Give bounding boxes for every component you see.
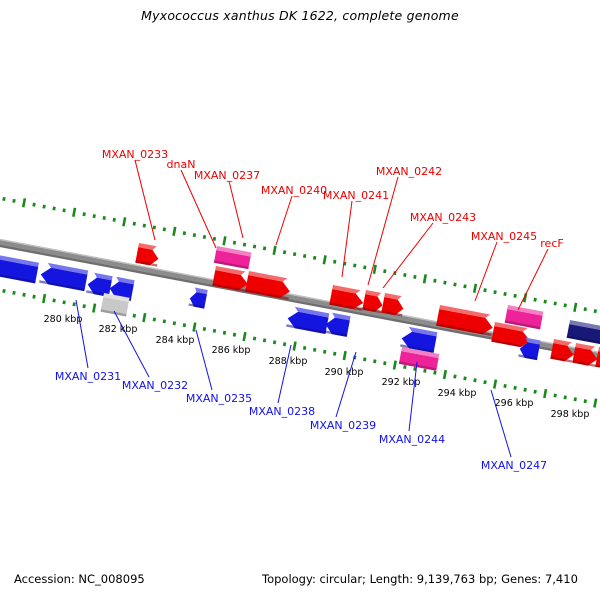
scale-tick-label: 288 kbp bbox=[269, 356, 308, 367]
leader-line-MXAN_0233 bbox=[135, 160, 155, 240]
scale-tick-label: 286 kbp bbox=[212, 345, 251, 356]
leader-line-MXAN_0241 bbox=[342, 201, 352, 277]
gene-label-MXAN_0238[interactable]: MXAN_0238 bbox=[249, 405, 315, 418]
scale-tick-label: 294 kbp bbox=[438, 388, 477, 399]
gene-label-MXAN_0245[interactable]: MXAN_0245 bbox=[471, 230, 537, 243]
gene-label-MXAN_0243[interactable]: MXAN_0243 bbox=[410, 211, 476, 224]
leader-line-MXAN_0243 bbox=[383, 223, 433, 288]
leader-line-MXAN_0237 bbox=[229, 181, 243, 238]
gene-label-MXAN_0241[interactable]: MXAN_0241 bbox=[323, 189, 389, 202]
leader-line-MXAN_0245 bbox=[475, 242, 497, 301]
gene-label-MXAN_0233[interactable]: MXAN_0233 bbox=[102, 148, 168, 161]
gene-label-MXAN_0247[interactable]: MXAN_0247 bbox=[481, 459, 547, 472]
leader-line-MXAN_0232 bbox=[114, 311, 149, 377]
leader-line-MXAN_0240 bbox=[276, 196, 292, 245]
label-leader-lines bbox=[0, 0, 600, 600]
gene-label-MXAN_0232[interactable]: MXAN_0232 bbox=[122, 379, 188, 392]
leader-line-MXAN_0231 bbox=[76, 300, 88, 368]
scale-tick-label: 282 kbp bbox=[99, 324, 138, 335]
leader-line-recF bbox=[518, 249, 548, 310]
map-plane: MXAN_0233dnaNMXAN_0237MXAN_0240MXAN_0241… bbox=[0, 0, 600, 600]
leader-line-MXAN_0239 bbox=[336, 352, 356, 417]
gene-label-MXAN_0242[interactable]: MXAN_0242 bbox=[376, 165, 442, 178]
gene-label-MXAN_0240[interactable]: MXAN_0240 bbox=[261, 184, 327, 197]
leader-line-MXAN_0244 bbox=[409, 362, 417, 431]
accession-text: Accession: NC_008095 bbox=[14, 572, 145, 586]
leader-line-MXAN_0235 bbox=[196, 330, 212, 390]
genome-map-viewer: Myxococcus xanthus DK 1622, complete gen… bbox=[0, 0, 600, 600]
scale-tick-label: 284 kbp bbox=[156, 335, 195, 346]
gene-label-MXAN_0239[interactable]: MXAN_0239 bbox=[310, 419, 376, 432]
scale-tick-label: 296 kbp bbox=[495, 398, 534, 409]
gene-label-MXAN_0237[interactable]: MXAN_0237 bbox=[194, 169, 260, 182]
gene-label-recF[interactable]: recF bbox=[540, 237, 563, 250]
leader-line-MXAN_0238 bbox=[278, 345, 291, 403]
scale-tick-label: 292 kbp bbox=[382, 377, 421, 388]
scale-tick-label: 290 kbp bbox=[325, 367, 364, 378]
gene-label-MXAN_0235[interactable]: MXAN_0235 bbox=[186, 392, 252, 405]
gene-label-dnaN[interactable]: dnaN bbox=[167, 158, 196, 171]
gene-label-MXAN_0231[interactable]: MXAN_0231 bbox=[55, 370, 121, 383]
scale-tick-label: 280 kbp bbox=[44, 314, 83, 325]
genome-stats-text: Topology: circular; Length: 9,139,763 bp… bbox=[262, 572, 578, 586]
gene-label-MXAN_0244[interactable]: MXAN_0244 bbox=[379, 433, 445, 446]
scale-tick-label: 298 kbp bbox=[551, 409, 590, 420]
